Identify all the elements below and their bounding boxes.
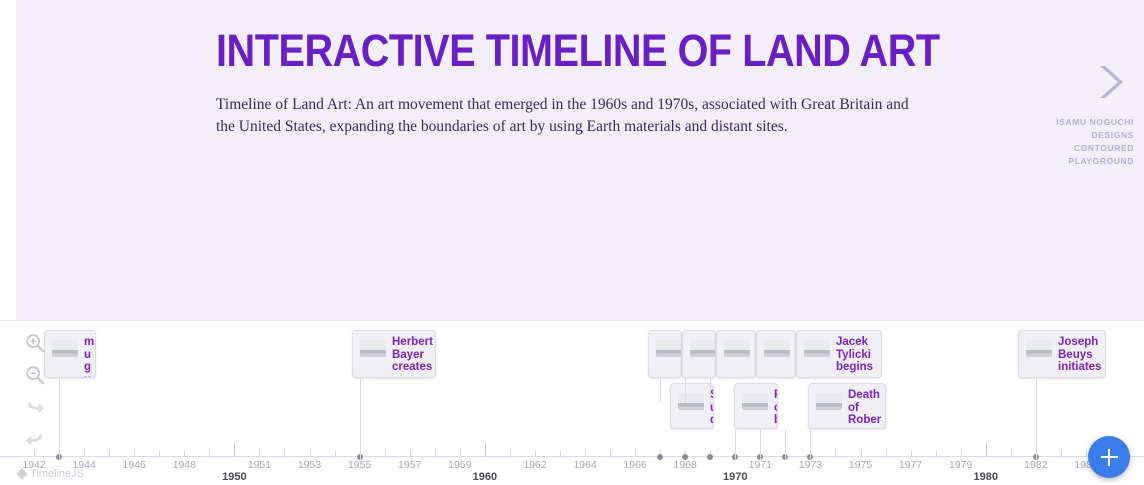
axis-tick-minor xyxy=(209,450,210,457)
marker-thumbnail-icon xyxy=(816,393,842,410)
plus-icon xyxy=(1101,449,1118,466)
timeline-marker-card[interactable]: "Ea Art exh… xyxy=(716,330,756,378)
slide-panel: INTERACTIVE TIMELINE OF LAND ART Timelin… xyxy=(16,0,1144,320)
undo-button[interactable] xyxy=(18,423,52,455)
timeline-app: INTERACTIVE TIMELINE OF LAND ART Timelin… xyxy=(0,0,1144,484)
axis-tick-minor xyxy=(835,450,836,457)
marker-thumbnail-icon xyxy=(690,340,716,357)
undo-arrow-icon xyxy=(24,428,46,450)
axis-tick-label: 1966 xyxy=(623,459,646,471)
axis-tick-minor xyxy=(635,450,636,457)
marker-title: Death of Robert Smithson… xyxy=(848,389,883,429)
marker-connector-line xyxy=(59,378,60,460)
next-slide-label: ISAMU NOGUCHI DESIGNS CONTOURED PLAYGROU… xyxy=(1032,116,1140,168)
timeline-marker-card[interactable] xyxy=(648,330,682,378)
axis-tick-label: 1950 xyxy=(222,471,246,483)
marker-connector-line xyxy=(710,378,711,403)
marker-connector-line xyxy=(785,429,786,460)
axis-tick-label: 1959 xyxy=(448,459,471,471)
axis-tick-label: 1962 xyxy=(523,459,546,471)
axis-tick-major xyxy=(986,443,987,457)
timeline-event-dot[interactable] xyxy=(657,454,663,460)
marker-thumbnail-icon xyxy=(678,393,704,410)
axis-tick-minor xyxy=(861,450,862,457)
marker-thumbnail-icon xyxy=(804,340,830,357)
timeline-marker-card[interactable]: Sud app of L… xyxy=(670,383,714,429)
marker-thumbnail-icon xyxy=(52,340,78,357)
axis-tick-label: 1960 xyxy=(473,471,497,483)
next-slide-line: CONTOURED xyxy=(1032,142,1134,155)
timeline-marker-card[interactable]: Cha Ros beg… xyxy=(756,330,796,378)
marker-connector-line xyxy=(360,378,361,460)
axis-tick-minor xyxy=(335,450,336,457)
marker-thumbnail-icon xyxy=(764,340,790,357)
axis-tick-minor xyxy=(385,450,386,457)
axis-tick-minor xyxy=(961,450,962,457)
timeline-marker-card[interactable]: Herbert Bayer creates… xyxy=(352,330,436,378)
zoom-in-icon xyxy=(24,332,46,354)
axis-tick-minor xyxy=(1011,450,1012,457)
next-slide-line: ISAMU NOGUCHI xyxy=(1032,116,1134,129)
axis-tick-minor xyxy=(1061,450,1062,457)
timeline-marker-card[interactable]: Rob Smi crea… xyxy=(734,383,778,429)
axis-tick-minor xyxy=(936,450,937,457)
next-slide-button[interactable]: ISAMU NOGUCHI DESIGNS CONTOURED PLAYGROU… xyxy=(1032,62,1140,168)
marker-thumbnail-icon xyxy=(656,340,682,357)
axis-tick-label: 1973 xyxy=(799,459,822,471)
axis-tick-minor xyxy=(259,450,260,457)
marker-connector-line xyxy=(810,429,811,460)
timeline-controls[interactable] xyxy=(18,327,54,455)
marker-connector-line xyxy=(1036,378,1037,460)
marker-title: Jacek Tylicki begins… xyxy=(836,336,879,378)
attribution[interactable]: TimelineJS xyxy=(18,468,84,480)
next-slide-line: DESIGNS xyxy=(1032,129,1134,142)
axis-tick-label: 1948 xyxy=(173,459,196,471)
diamond-icon xyxy=(16,468,27,479)
timeline-marker-card[interactable]: Joseph Beuys initiates… xyxy=(1018,330,1106,378)
axis-tick-minor xyxy=(410,450,411,457)
timeline-axis xyxy=(0,456,1144,457)
timeline-marker-card[interactable] xyxy=(682,330,716,378)
marker-connector-line xyxy=(685,378,686,403)
marker-title: Herbert Bayer creates… xyxy=(392,336,433,378)
axis-tick-minor xyxy=(460,450,461,457)
axis-tick-minor xyxy=(84,450,85,457)
axis-tick-label: 1951 xyxy=(248,459,271,471)
axis-tick-major xyxy=(234,443,235,457)
axis-tick-minor xyxy=(886,450,887,457)
axis-tick-minor xyxy=(310,450,311,457)
marker-container: mu guchi signs…Herbert Bayer creates…"Ea… xyxy=(0,321,1144,431)
axis-tick-minor xyxy=(911,450,912,457)
axis-tick-minor xyxy=(610,450,611,457)
axis-tick-label: 1977 xyxy=(899,459,922,471)
redo-button[interactable] xyxy=(18,391,52,423)
axis-tick-minor xyxy=(159,450,160,457)
marker-thumbnail-icon xyxy=(742,393,768,410)
axis-tick-label: 1971 xyxy=(749,459,772,471)
zoom-in-button[interactable] xyxy=(18,327,52,359)
marker-connector-line xyxy=(760,429,761,460)
axis-tick-minor xyxy=(435,450,436,457)
axis-tick-label: 1946 xyxy=(123,459,146,471)
axis-tick-minor xyxy=(109,450,110,457)
axis-tick-label: 1957 xyxy=(398,459,421,471)
axis-tick-minor xyxy=(184,450,185,457)
axis-tick-label: 1982 xyxy=(1024,459,1047,471)
marker-thumbnail-icon xyxy=(360,340,386,357)
marker-title: mu guchi signs… xyxy=(84,336,93,378)
marker-thumbnail-icon xyxy=(1026,340,1052,357)
timeline-marker-card[interactable]: Death of Robert Smithson… xyxy=(808,383,886,429)
axis-tick-minor xyxy=(585,450,586,457)
zoom-out-button[interactable] xyxy=(18,359,52,391)
axis-tick-minor xyxy=(1086,450,1087,457)
axis-tick-minor xyxy=(134,450,135,457)
marker-thumbnail-icon xyxy=(724,340,750,357)
axis-tick-minor xyxy=(535,450,536,457)
axis-tick-label: 1964 xyxy=(573,459,596,471)
axis-tick-label: 1980 xyxy=(973,471,997,483)
slide-description: Timeline of Land Art: An art movement th… xyxy=(216,94,926,138)
marker-title: Joseph Beuys initiates… xyxy=(1058,336,1103,378)
axis-tick-label: 1975 xyxy=(849,459,872,471)
axis-tick-minor xyxy=(510,450,511,457)
marker-title: Rob Smi crea… xyxy=(774,389,775,429)
axis-tick-minor xyxy=(560,450,561,457)
slide-content: INTERACTIVE TIMELINE OF LAND ART Timelin… xyxy=(216,26,936,138)
zoom-out-icon xyxy=(24,364,46,386)
timeline-event-dot[interactable] xyxy=(707,454,713,460)
chevron-right-icon xyxy=(1092,62,1126,102)
redo-arrow-icon xyxy=(24,396,46,418)
marker-connector-line xyxy=(735,429,736,460)
add-button[interactable] xyxy=(1088,436,1130,478)
next-slide-line: PLAYGROUND xyxy=(1032,155,1134,168)
attribution-label: TimelineJS xyxy=(30,468,84,480)
timeline-marker-card[interactable]: Jacek Tylicki begins… xyxy=(796,330,882,378)
axis-tick-label: 1953 xyxy=(298,459,321,471)
marker-connector-line xyxy=(660,378,661,403)
axis-tick-major xyxy=(485,443,486,457)
axis-tick-label: 1968 xyxy=(674,459,697,471)
timeline-navigation[interactable]: mu guchi signs…Herbert Bayer creates…"Ea… xyxy=(0,320,1144,485)
axis-tick-label: 1979 xyxy=(949,459,972,471)
axis-tick-minor xyxy=(284,450,285,457)
axis-tick-label: 1955 xyxy=(348,459,371,471)
page-title: INTERACTIVE TIMELINE OF LAND ART xyxy=(216,26,850,76)
axis-tick-label: 1970 xyxy=(723,471,747,483)
timeline-event-dot[interactable] xyxy=(682,454,688,460)
